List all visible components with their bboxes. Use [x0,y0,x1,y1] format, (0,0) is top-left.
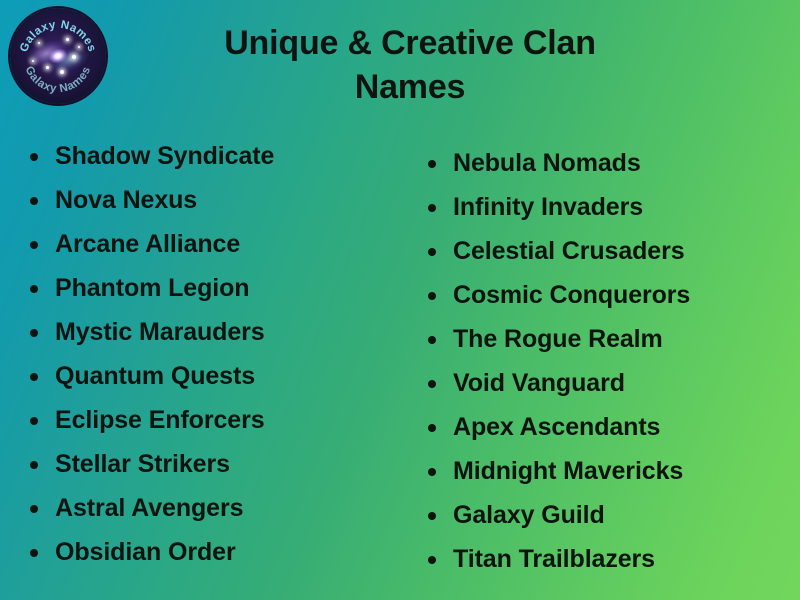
bullet-icon [30,549,38,557]
list-item: Quantum Quests [22,354,400,398]
list-item-label: Eclipse Enforcers [55,406,265,434]
list-item-label: Shadow Syndicate [55,142,274,170]
list-item: Nebula Nomads [420,141,800,185]
poster-canvas: Galaxy Names Galaxy Names Unique & Creat… [0,0,800,600]
list-item-label: Obsidian Order [55,538,236,566]
list-item-label: Stellar Strikers [55,450,230,478]
list-item: Celestial Crusaders [420,229,800,273]
list-item: Phantom Legion [22,266,400,310]
list-item-label: Quantum Quests [55,362,255,390]
list-item: Nova Nexus [22,178,400,222]
list-item: Galaxy Guild [420,493,800,537]
left-name-list: Shadow Syndicate Nova Nexus Arcane Allia… [22,134,400,574]
list-item-label: The Rogue Realm [453,325,663,353]
list-item-label: Infinity Invaders [453,193,643,221]
list-item: Void Vanguard [420,361,800,405]
bullet-icon [30,153,38,161]
bullet-icon [428,292,436,300]
page-title: Unique & Creative Clan Names [150,22,670,109]
list-item-label: Arcane Alliance [55,230,240,258]
bullet-icon [30,505,38,513]
list-item: Astral Avengers [22,486,400,530]
list-item: Stellar Strikers [22,442,400,486]
list-item-label: Galaxy Guild [453,501,605,529]
bullet-icon [428,204,436,212]
list-item-label: Apex Ascendants [453,413,660,441]
bullet-icon [428,556,436,564]
bullet-icon [428,512,436,520]
list-item: Arcane Alliance [22,222,400,266]
bullet-icon [30,197,38,205]
bullet-icon [428,248,436,256]
list-item: Eclipse Enforcers [22,398,400,442]
list-item: Cosmic Conquerors [420,273,800,317]
clan-name-columns: Shadow Syndicate Nova Nexus Arcane Allia… [0,128,800,588]
list-item-label: Titan Trailblazers [453,545,655,573]
galaxy-names-logo: Galaxy Names Galaxy Names [10,8,106,104]
logo-top-textpath: Galaxy Names [18,19,98,54]
list-item-label: Void Vanguard [453,369,625,397]
list-item-label: Nebula Nomads [453,149,641,177]
list-item: The Rogue Realm [420,317,800,361]
list-item-label: Celestial Crusaders [453,237,685,265]
bullet-icon [30,461,38,469]
list-item: Infinity Invaders [420,185,800,229]
left-column: Shadow Syndicate Nova Nexus Arcane Allia… [0,128,400,588]
bullet-icon [428,424,436,432]
list-item: Apex Ascendants [420,405,800,449]
list-item: Midnight Mavericks [420,449,800,493]
right-name-list: Nebula Nomads Infinity Invaders Celestia… [420,141,800,581]
list-item: Mystic Marauders [22,310,400,354]
bullet-icon [30,373,38,381]
list-item: Obsidian Order [22,530,400,574]
list-item-label: Midnight Mavericks [453,457,683,485]
bullet-icon [30,241,38,249]
logo-bottom-text: Galaxy Names [23,64,94,95]
logo-bottom-textpath: Galaxy Names [23,64,94,95]
bullet-icon [428,380,436,388]
list-item: Titan Trailblazers [420,537,800,581]
list-item: Shadow Syndicate [22,134,400,178]
list-item-label: Cosmic Conquerors [453,281,690,309]
bullet-icon [428,160,436,168]
list-item-label: Nova Nexus [55,186,197,214]
page-title-line-2: Names [150,66,670,110]
bullet-icon [428,336,436,344]
bullet-icon [30,417,38,425]
bullet-icon [428,468,436,476]
bullet-icon [30,285,38,293]
logo-top-text: Galaxy Names [18,19,98,54]
list-item-label: Mystic Marauders [55,318,265,346]
list-item-label: Phantom Legion [55,274,249,302]
list-item-label: Astral Avengers [55,494,243,522]
right-column: Nebula Nomads Infinity Invaders Celestia… [400,128,800,588]
page-title-line-1: Unique & Creative Clan [150,22,670,66]
logo-arc-text: Galaxy Names Galaxy Names [10,8,106,104]
bullet-icon [30,329,38,337]
